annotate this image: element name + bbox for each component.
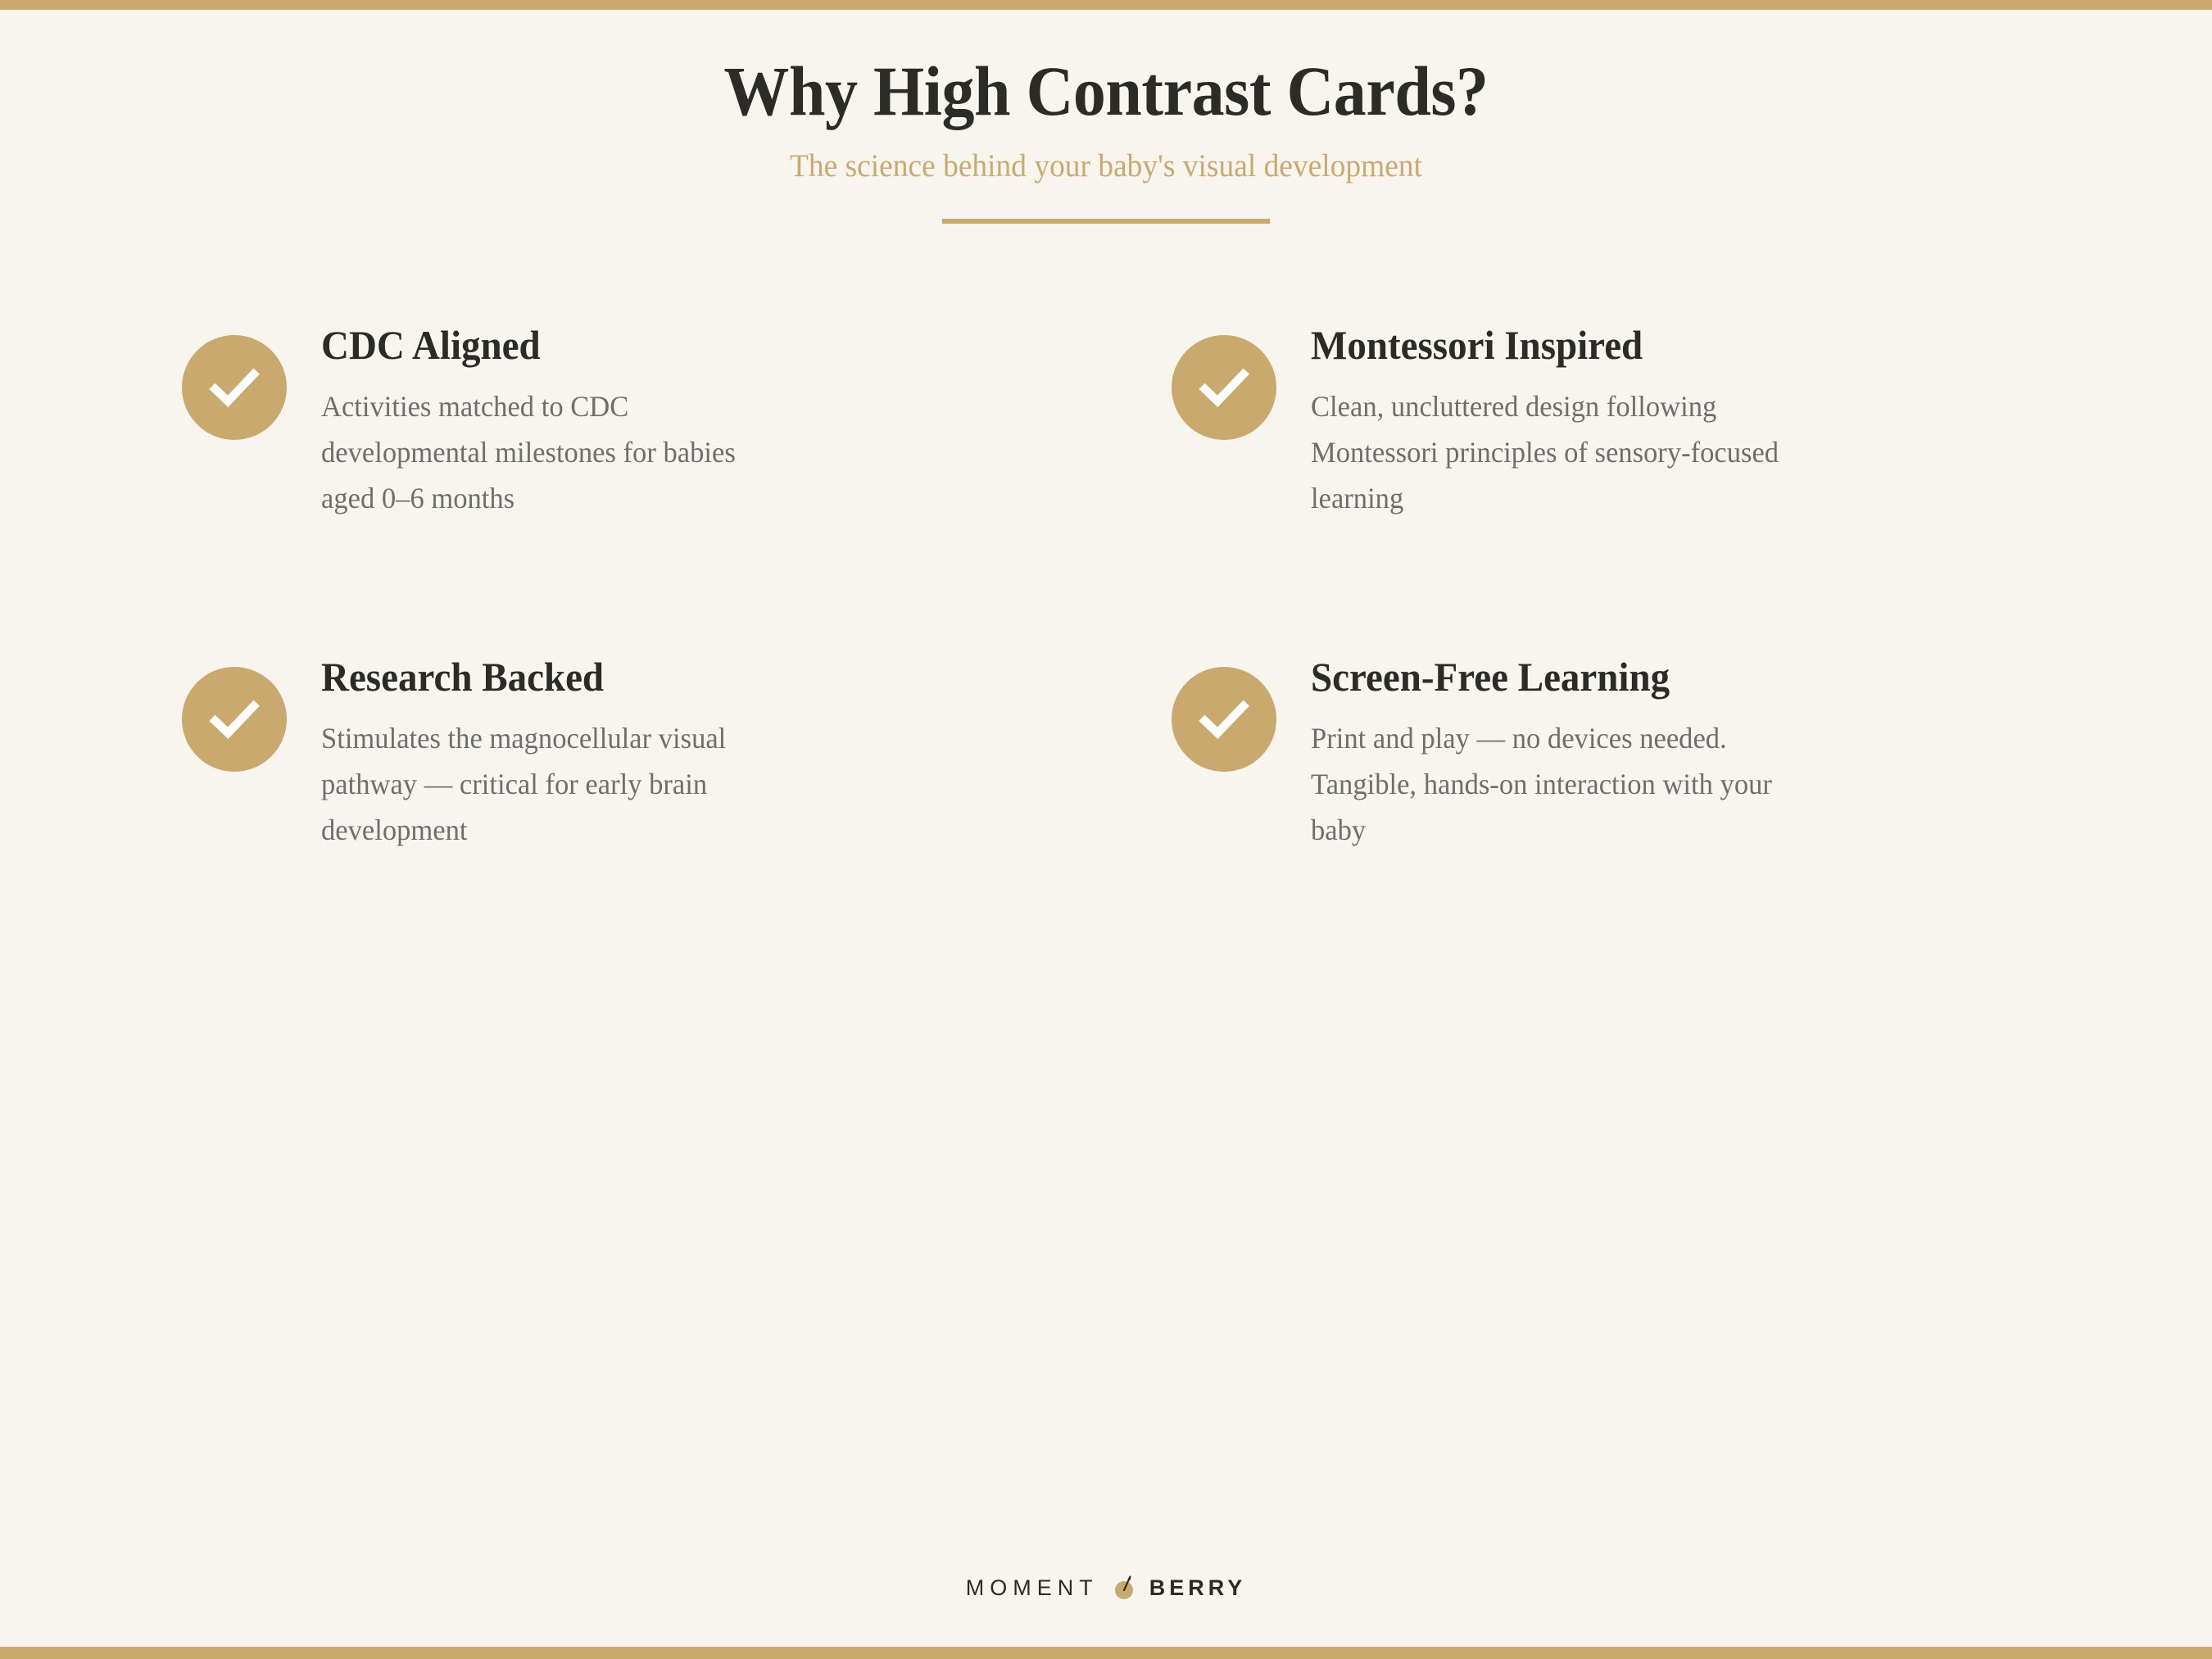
feature-body: CDC Aligned Activities matched to CDC de… [321,320,1040,521]
check-circle-icon [1172,335,1276,440]
feature-title: Research Backed [321,654,997,700]
berry-clock-icon [1110,1574,1138,1602]
check-circle-icon [182,335,287,440]
feature-item-research-backed: Research Backed Stimulates the magnocell… [182,652,1040,853]
check-circle-icon [182,667,287,772]
brand-logo-word-moment: MOMENT [966,1575,1099,1601]
title-divider [942,219,1270,224]
feature-item-cdc-aligned: CDC Aligned Activities matched to CDC de… [182,320,1040,521]
feature-description: Activities matched to CDC developmental … [321,384,793,521]
feature-item-screen-free-learning: Screen-Free Learning Print and play — no… [1172,652,2030,853]
check-circle-icon [1172,667,1276,772]
feature-description: Print and play — no devices needed. Tang… [1311,716,1783,853]
feature-description: Clean, uncluttered design following Mont… [1311,384,1783,521]
page-subtitle: The science behind your baby's visual de… [44,147,2168,186]
feature-body: Research Backed Stimulates the magnocell… [321,652,1040,853]
feature-title: CDC Aligned [321,322,997,368]
top-accent-bar [0,0,2212,10]
page-title: Why High Contrast Cards? [78,54,2135,128]
feature-body: Screen-Free Learning Print and play — no… [1311,652,2030,853]
feature-grid: CDC Aligned Activities matched to CDC de… [0,320,2212,854]
page-root: Why High Contrast Cards? The science beh… [0,0,2212,1659]
brand-logo: MOMENT BERRY [966,1574,1247,1602]
feature-title: Montessori Inspired [1311,322,1987,368]
feature-item-montessori-inspired: Montessori Inspired Clean, uncluttered d… [1172,320,2030,521]
feature-body: Montessori Inspired Clean, uncluttered d… [1311,320,2030,521]
bottom-accent-bar [0,1647,2212,1659]
page-footer: MOMENT BERRY [0,1574,2212,1602]
page-header: Why High Contrast Cards? The science beh… [0,10,2212,224]
feature-title: Screen-Free Learning [1311,654,1987,700]
brand-logo-word-berry: BERRY [1149,1575,1247,1601]
feature-description: Stimulates the magnocellular visual path… [321,716,793,853]
